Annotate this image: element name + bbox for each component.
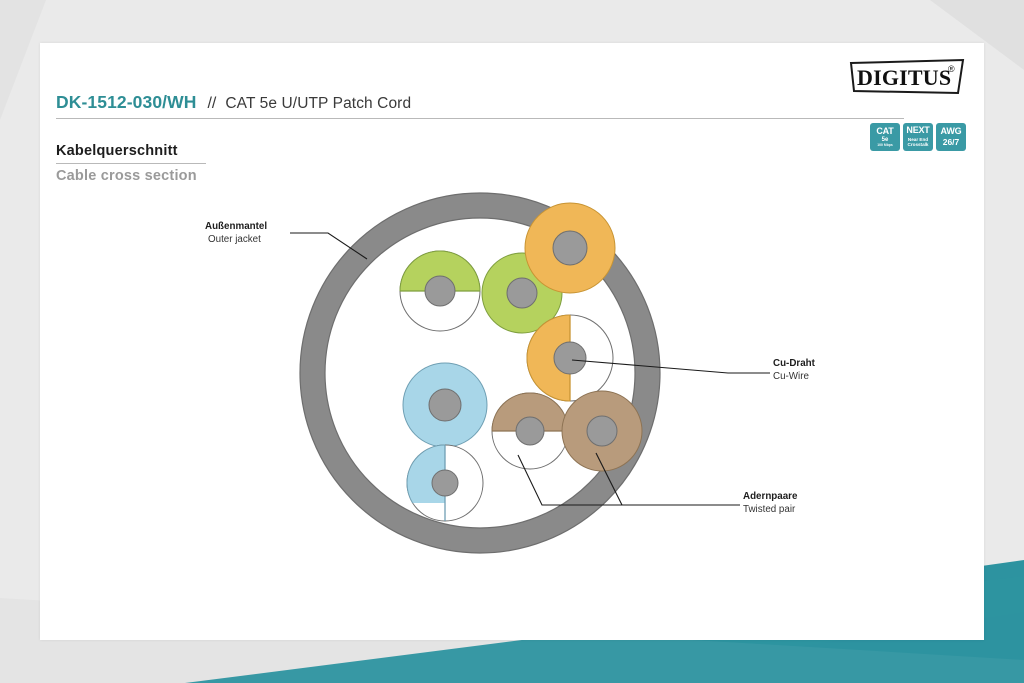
cu-core-brown-striped bbox=[516, 417, 544, 445]
cu-core-blue-solid bbox=[429, 389, 461, 421]
callout-cu-wire-label-en: Cu-Wire bbox=[773, 371, 809, 382]
cu-core-blue-striped bbox=[432, 470, 458, 496]
wire-orange-solid bbox=[525, 203, 615, 293]
wire-blue-striped bbox=[407, 445, 483, 521]
screenshot-root: DIGITUS ® CAT 5e 100 Mbps NEXT Near End … bbox=[0, 0, 1024, 683]
callout-twisted-pair-label-de: Adernpaare bbox=[743, 491, 798, 502]
wire-brown-striped bbox=[492, 393, 568, 469]
content-card: DIGITUS ® CAT 5e 100 Mbps NEXT Near End … bbox=[40, 43, 984, 640]
callout-cu-wire-label-de: Cu-Draht bbox=[773, 358, 816, 369]
cu-core-orange-solid bbox=[553, 231, 587, 265]
cu-core-orange-striped bbox=[554, 342, 586, 374]
wire-orange-striped bbox=[527, 315, 613, 401]
callout-twisted-pair-label-en: Twisted pair bbox=[743, 504, 796, 515]
callout-outer-jacket: Außenmantel Outer jacket bbox=[205, 221, 367, 259]
callout-outer-jacket-label-de: Außenmantel bbox=[205, 221, 267, 232]
cu-core-green-striped bbox=[425, 276, 455, 306]
callout-outer-jacket-label-en: Outer jacket bbox=[208, 234, 261, 245]
cu-core-green-solid bbox=[507, 278, 537, 308]
wire-blue-solid bbox=[403, 363, 487, 447]
wire-brown-solid bbox=[562, 391, 642, 471]
cable-cross-section-diagram: Außenmantel Outer jacket Cu-Draht Cu-Wir… bbox=[40, 43, 984, 640]
wire-green-striped bbox=[400, 251, 480, 331]
cu-core-brown-solid bbox=[587, 416, 617, 446]
